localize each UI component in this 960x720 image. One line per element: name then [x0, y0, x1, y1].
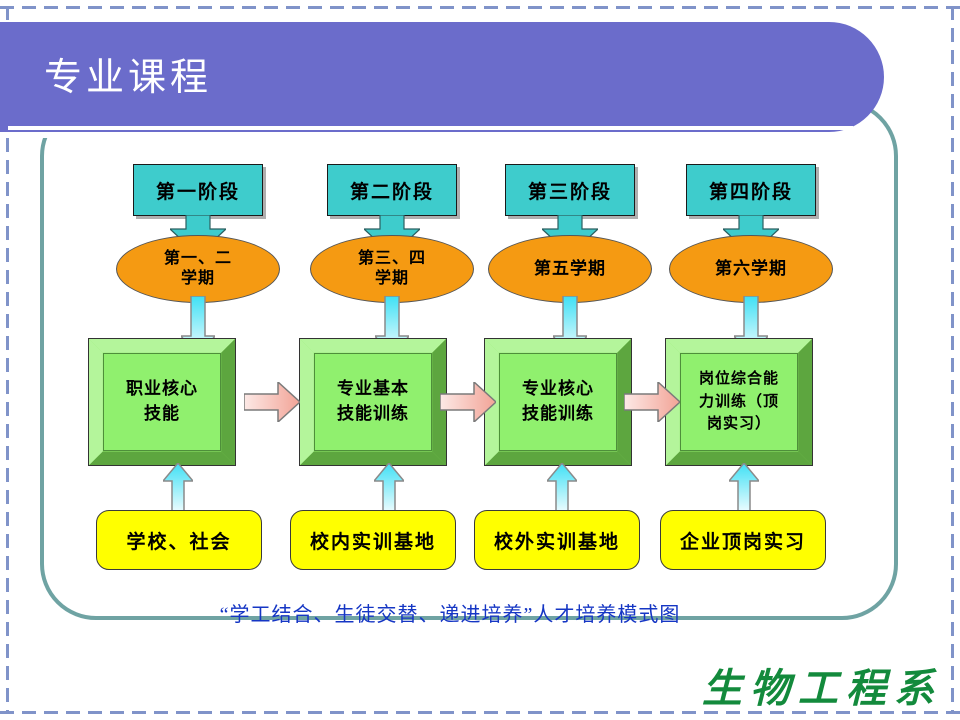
semester-ellipse-1[interactable]: 第一、二 学期	[116, 235, 280, 303]
skill-box-3[interactable]: 专业核心 技能训练	[484, 338, 632, 466]
semester-ellipse-2[interactable]: 第三、四 学期	[310, 235, 474, 303]
stage-box-1-label: 第一阶段	[156, 177, 240, 204]
skill-box-3-label: 专业核心 技能训练	[522, 377, 594, 426]
resource-box-1[interactable]: 学校、社会	[96, 510, 262, 570]
semester-ellipse-4-label: 第六学期	[715, 258, 787, 279]
resource-box-2-label: 校内实训基地	[310, 527, 436, 554]
skill-box-3-inner: 专业核心 技能训练	[499, 353, 617, 451]
resource-arrow-4	[729, 463, 759, 517]
resource-arrow-1	[163, 463, 193, 517]
skill-box-4-inner: 岗位综合能 力训练（顶 岗实习）	[680, 353, 798, 451]
resource-arrow-3	[547, 463, 577, 517]
semester-ellipse-2-label: 第三、四 学期	[358, 249, 426, 289]
progress-arrow-3-4	[624, 382, 680, 422]
header-underline	[8, 126, 853, 130]
resource-box-4-label: 企业顶岗实习	[680, 527, 806, 554]
slide-border-right	[951, 6, 954, 714]
stage-box-2[interactable]: 第二阶段	[327, 164, 457, 216]
stage-box-1[interactable]: 第一阶段	[133, 164, 263, 216]
skill-box-2-inner: 专业基本 技能训练	[314, 353, 432, 451]
stage-box-4-label: 第四阶段	[709, 177, 793, 204]
resource-box-1-label: 学校、社会	[126, 527, 231, 554]
resource-box-2[interactable]: 校内实训基地	[290, 510, 456, 570]
skill-box-1[interactable]: 职业核心 技能	[88, 338, 236, 466]
stage-box-2-label: 第二阶段	[350, 177, 434, 204]
resource-box-4[interactable]: 企业顶岗实习	[660, 510, 826, 570]
progress-arrow-2-3	[440, 382, 496, 422]
semester-ellipse-3-label: 第五学期	[534, 258, 606, 279]
department-logo: 生物工程系	[702, 656, 942, 714]
skill-box-2[interactable]: 专业基本 技能训练	[299, 338, 447, 466]
progress-arrow-1-2	[244, 382, 300, 422]
semester-ellipse-4[interactable]: 第六学期	[669, 235, 833, 303]
slide-border-top	[0, 6, 960, 9]
page-title: 专业课程	[44, 46, 212, 101]
semester-ellipse-1-label: 第一、二 学期	[164, 249, 232, 289]
skill-box-4[interactable]: 岗位综合能 力训练（顶 岗实习）	[665, 338, 813, 466]
slide-canvas: 专业课程 第一阶段 第一、二 学期 职业核心 技能 学校、社会 第二阶	[0, 0, 960, 720]
skill-box-1-label: 职业核心 技能	[126, 377, 198, 426]
resource-box-3-label: 校外实训基地	[494, 527, 620, 554]
semester-ellipse-3[interactable]: 第五学期	[488, 235, 652, 303]
stage-box-4[interactable]: 第四阶段	[686, 164, 816, 216]
stage-box-3[interactable]: 第三阶段	[505, 164, 635, 216]
stage-box-3-label: 第三阶段	[528, 177, 612, 204]
resource-box-3[interactable]: 校外实训基地	[474, 510, 640, 570]
skill-box-2-label: 专业基本 技能训练	[337, 377, 409, 426]
resource-arrow-2	[374, 463, 404, 517]
skill-box-4-label: 岗位综合能 力训练（顶 岗实习）	[699, 368, 779, 436]
diagram-caption: “学工结合、生徒交替、递进培养”人才培养模式图	[0, 598, 900, 627]
skill-box-1-inner: 职业核心 技能	[103, 353, 221, 451]
